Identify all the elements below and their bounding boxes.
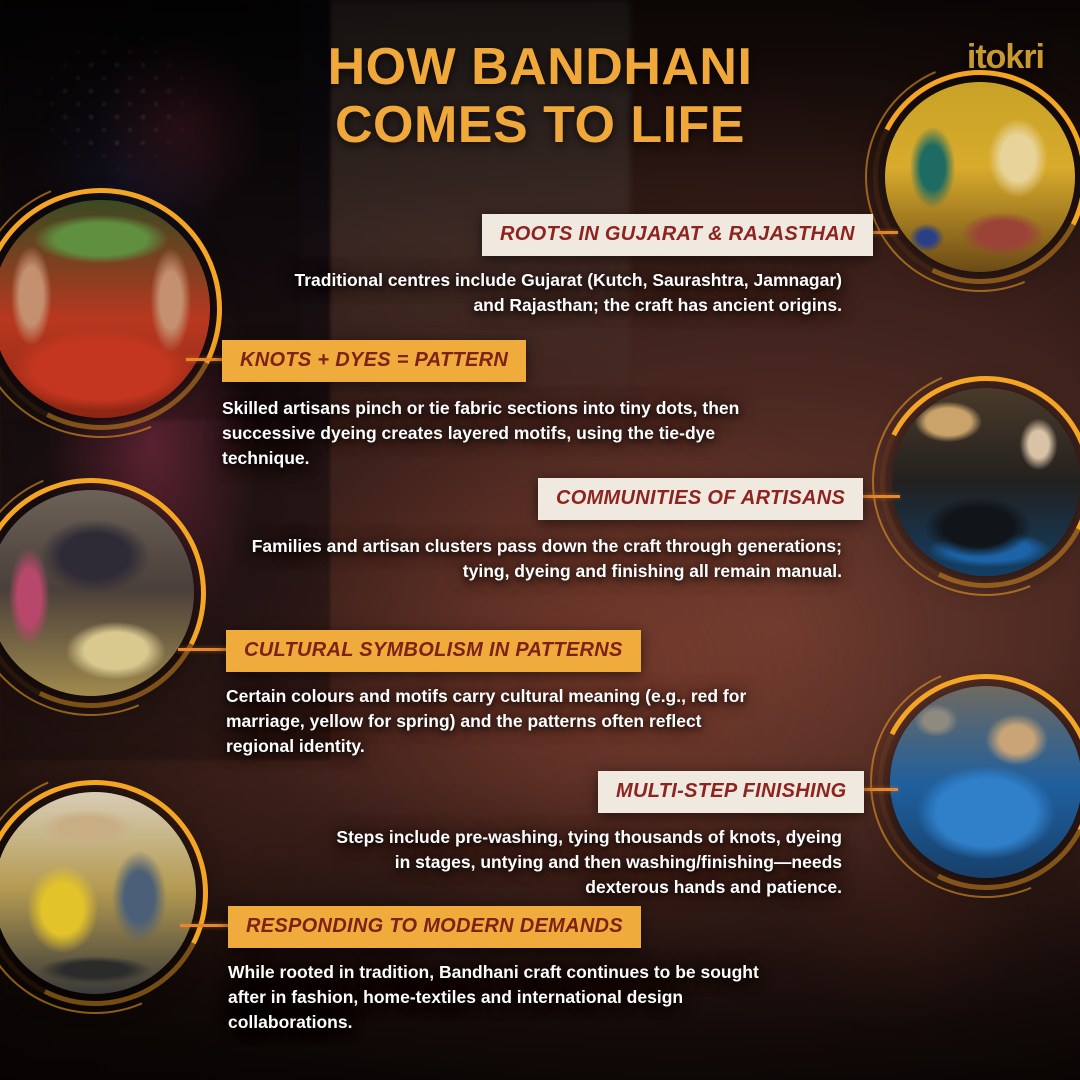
infographic-poster: HOW BANDHANI COMES TO LIFE itokri xyxy=(0,0,1080,1080)
step-label-roots-in-gujarat-rajasthan[interactable]: ROOTS IN GUJARAT & RAJASTHAN xyxy=(482,214,873,256)
step-label-knots-dyes-pattern[interactable]: KNOTS + DYES = PATTERN xyxy=(222,340,526,382)
photo-woman-sewing-seated xyxy=(0,490,194,696)
step-label-cultural-symbolism-in-patterns[interactable]: CULTURAL SYMBOLISM IN PATTERNS xyxy=(226,630,641,672)
step-body-multi-step-finishing: Steps include pre-washing, tying thousan… xyxy=(322,825,842,900)
photo-women-tying-bandhani xyxy=(885,82,1075,272)
photo-dyer-black-gloves-blue-tub xyxy=(892,388,1080,576)
photo-artisan-tying-red-fabric xyxy=(0,200,210,418)
connector-step-4 xyxy=(178,648,232,651)
connector-step-6 xyxy=(180,924,232,927)
step-body-responding-to-modern-demands: While rooted in tradition, Bandhani craf… xyxy=(228,960,784,1035)
step-label-communities-of-artisans[interactable]: COMMUNITIES OF ARTISANS xyxy=(538,478,863,520)
photo-indigo-dye-vat xyxy=(890,686,1080,878)
step-label-responding-to-modern-demands[interactable]: RESPONDING TO MODERN DEMANDS xyxy=(228,906,641,948)
step-body-cultural-symbolism-in-patterns: Certain colours and motifs carry cultura… xyxy=(226,684,766,759)
step-body-roots-in-gujarat-rajasthan: Traditional centres include Gujarat (Kut… xyxy=(266,268,842,318)
photo-artisan-lifting-yellow-hank xyxy=(0,792,196,994)
step-body-communities-of-artisans: Families and artisan clusters pass down … xyxy=(240,534,842,584)
step-label-multi-step-finishing[interactable]: MULTI-STEP FINISHING xyxy=(598,771,864,813)
step-body-knots-dyes-pattern: Skilled artisans pinch or tie fabric sec… xyxy=(222,396,752,471)
